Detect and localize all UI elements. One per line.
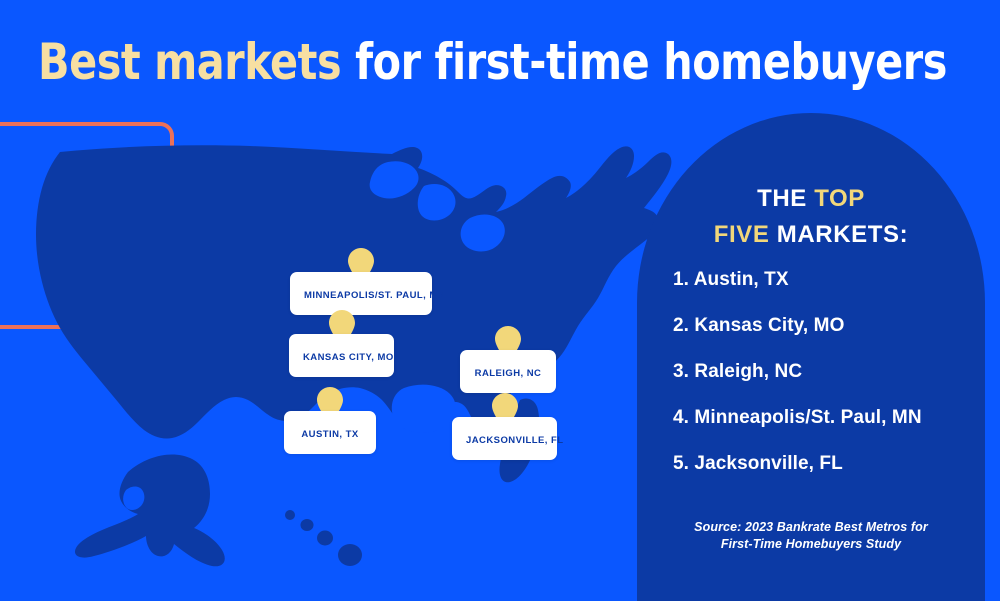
marker-label-text: KANSAS CITY, MO: [303, 352, 394, 363]
alaska-shape: [75, 454, 225, 566]
marker-label-text: MINNEAPOLIS/ST. PAUL, MN: [304, 290, 445, 301]
panel-heading-markets: MARKETS:: [770, 221, 909, 248]
panel-heading-line-2: FIVE MARKETS:: [637, 217, 985, 253]
panel-heading-the: THE: [757, 185, 814, 212]
marker-label-box: AUSTIN, TX: [284, 411, 376, 454]
list-item: 3. Raleigh, NC: [673, 360, 967, 384]
hawaii-island-3: [317, 531, 333, 546]
source-line-1: Source: 2023 Bankrate Best Metros for: [663, 519, 959, 536]
panel-heading-line-1: THE TOP: [637, 181, 985, 217]
hawaii-island-2: [301, 519, 314, 531]
marker-label-text: AUSTIN, TX: [301, 429, 358, 440]
list-item: 1. Austin, TX: [673, 268, 967, 292]
list-item: 2. Kansas City, MO: [673, 314, 967, 338]
marker-label-box: KANSAS CITY, MO: [289, 334, 394, 377]
marker-label-box: JACKSONVILLE, FL: [452, 417, 557, 460]
top-markets-list: 1. Austin, TX 2. Kansas City, MO 3. Rale…: [673, 268, 967, 498]
marker-label-box: MINNEAPOLIS/ST. PAUL, MN: [290, 272, 432, 315]
marker-label-text: RALEIGH, NC: [475, 368, 542, 379]
marker-label-box: RALEIGH, NC: [460, 350, 556, 393]
page-title-plain: for first-time homebuyers: [341, 33, 947, 91]
source-line-2: First-Time Homebuyers Study: [663, 536, 959, 553]
list-item: 4. Minneapolis/St. Paul, MN: [673, 406, 967, 430]
hawaii-island-4: [338, 544, 362, 566]
hawaii-island-1: [285, 510, 295, 520]
marker-label-text: JACKSONVILLE, FL: [466, 435, 563, 446]
page-title: Best markets for first-time homebuyers: [38, 34, 947, 90]
list-item: 5. Jacksonville, FL: [673, 452, 967, 476]
top-markets-panel: THE TOP FIVE MARKETS: 1. Austin, TX 2. K…: [637, 113, 985, 601]
panel-heading-five: FIVE: [714, 221, 770, 248]
infographic-canvas: Best markets for first-time homebuyers: [0, 0, 1000, 601]
panel-heading: THE TOP FIVE MARKETS:: [637, 181, 985, 253]
gulf-cutout: [392, 385, 456, 433]
panel-heading-top: TOP: [814, 185, 865, 212]
page-title-accent: Best markets: [38, 33, 341, 91]
source-citation: Source: 2023 Bankrate Best Metros for Fi…: [663, 519, 959, 553]
